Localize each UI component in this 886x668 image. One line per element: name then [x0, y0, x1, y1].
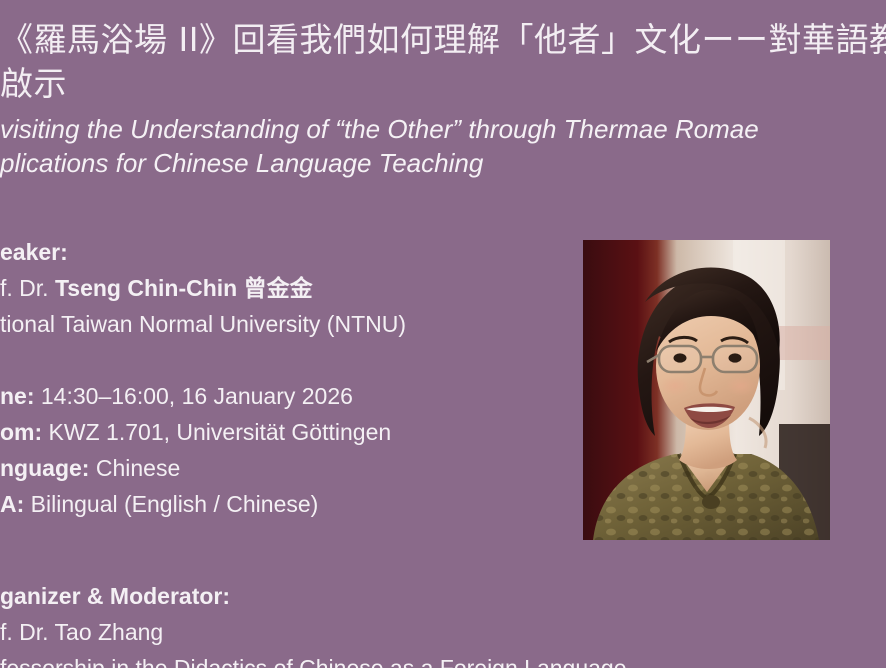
title-chinese-line-2: 啟示	[0, 62, 886, 106]
detail-value-language: Chinese	[89, 455, 180, 481]
detail-label-qa: A:	[0, 491, 24, 517]
speaker-name: Tseng Chin-Chin 曾金金	[55, 275, 313, 301]
title-english-line-2: plications for Chinese Language Teaching	[0, 146, 886, 180]
speaker-portrait-photo	[583, 240, 830, 540]
poster-title-english: visiting the Understanding of “the Other…	[0, 112, 886, 180]
organizer-professorship: fessorship in the Didactics of Chinese a…	[0, 650, 886, 668]
detail-label-room: om:	[0, 419, 42, 445]
lecture-announcement-poster: 《羅馬浴場 II》回看我們如何理解「他者」文化ーー對華語教 啟示 visitin…	[0, 0, 886, 668]
organizer-label: ganizer & Moderator:	[0, 578, 886, 614]
title-chinese-line-1: 《羅馬浴場 II》回看我們如何理解「他者」文化ーー對華語教	[0, 20, 886, 59]
title-english-line-1: visiting the Understanding of “the Other…	[0, 114, 759, 144]
organizer-block: ganizer & Moderator: f. Dr. Tao Zhang fe…	[0, 578, 886, 668]
poster-title-chinese: 《羅馬浴場 II》回看我們如何理解「他者」文化ーー對華語教 啟示	[0, 18, 886, 106]
detail-value-qa: Bilingual (English / Chinese)	[24, 491, 318, 517]
speaker-name-prefix: f. Dr.	[0, 275, 55, 301]
detail-label-language: nguage:	[0, 455, 89, 481]
detail-value-time: 14:30–16:00, 16 January 2026	[35, 383, 353, 409]
portrait-image	[583, 240, 830, 540]
detail-label-time: ne:	[0, 383, 35, 409]
detail-value-room: KWZ 1.701, Universität Göttingen	[42, 419, 391, 445]
organizer-name: f. Dr. Tao Zhang	[0, 614, 886, 650]
